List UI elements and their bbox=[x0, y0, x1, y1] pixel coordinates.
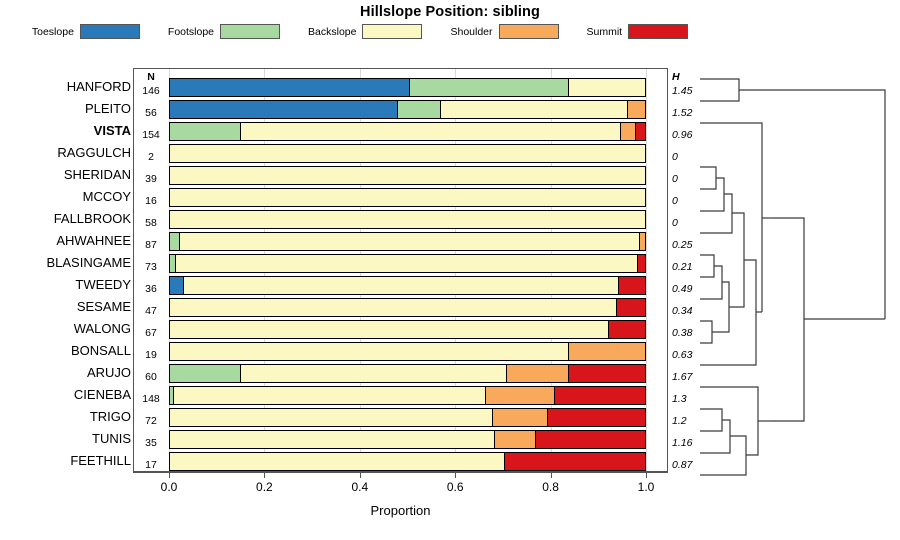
stacked-bar bbox=[169, 188, 646, 207]
bar-segment-footslope bbox=[170, 233, 180, 250]
bar-segment-backslope bbox=[241, 365, 507, 382]
stacked-bar bbox=[169, 452, 646, 471]
series-label-arujo: ARUJO bbox=[1, 365, 131, 380]
x-tick-label: 0.2 bbox=[244, 480, 284, 494]
bar-segment-summit bbox=[536, 431, 645, 448]
bar-segment-toeslope bbox=[170, 79, 410, 96]
stacked-bar bbox=[169, 408, 646, 427]
chart-row: TUNIS351.16 bbox=[134, 429, 667, 451]
plot-area: NHHANFORD1461.45PLEITO561.52VISTA1540.96… bbox=[134, 69, 667, 471]
n-value: 60 bbox=[136, 371, 166, 383]
legend-item-shoulder: Shoulder bbox=[450, 24, 586, 39]
n-value: 17 bbox=[136, 459, 166, 471]
bar-segment-backslope bbox=[241, 123, 621, 140]
dendrogram bbox=[700, 60, 896, 480]
bar-segment-footslope bbox=[170, 123, 241, 140]
bar-segment-footslope bbox=[398, 101, 441, 118]
n-value: 154 bbox=[136, 129, 166, 141]
bar-segment-backslope bbox=[184, 277, 619, 294]
legend-swatch bbox=[628, 24, 688, 39]
bar-segment-backslope bbox=[170, 299, 617, 316]
series-label-hanford: HANFORD bbox=[1, 79, 131, 94]
bar-segment-backslope bbox=[170, 321, 609, 338]
chart-row: RAGGULCH20 bbox=[134, 143, 667, 165]
x-tick-label: 0.0 bbox=[149, 480, 189, 494]
chart-row: AHWAHNEE870.25 bbox=[134, 231, 667, 253]
stacked-bar bbox=[169, 276, 646, 295]
bar-segment-backslope bbox=[170, 145, 645, 162]
bar-segment-backslope bbox=[441, 101, 629, 118]
n-value: 16 bbox=[136, 195, 166, 207]
bar-segment-backslope bbox=[170, 189, 645, 206]
bar-segment-summit bbox=[636, 123, 645, 140]
chart-row: ARUJO601.67 bbox=[134, 363, 667, 385]
chart-row: VISTA1540.96 bbox=[134, 121, 667, 143]
series-label-bonsall: BONSALL bbox=[1, 343, 131, 358]
chart-row: FALLBROOK580 bbox=[134, 209, 667, 231]
chart-row: BLASINGAME730.21 bbox=[134, 253, 667, 275]
x-axis-line bbox=[133, 472, 668, 473]
bar-segment-summit bbox=[609, 321, 645, 338]
bar-segment-backslope bbox=[180, 233, 640, 250]
x-axis-label: Proportion bbox=[133, 503, 668, 518]
chart-row: HANFORD1461.45 bbox=[134, 77, 667, 99]
chart-root: Hillslope Position: sibling ToeslopeFoot… bbox=[0, 0, 900, 540]
x-tick-label: 0.4 bbox=[340, 480, 380, 494]
legend-label: Footslope bbox=[168, 26, 214, 38]
bar-segment-backslope bbox=[176, 255, 638, 272]
legend-item-footslope: Footslope bbox=[168, 24, 308, 39]
n-value: 56 bbox=[136, 107, 166, 119]
plot-panel: NHHANFORD1461.45PLEITO561.52VISTA1540.96… bbox=[133, 68, 668, 472]
chart-row: TRIGO721.2 bbox=[134, 407, 667, 429]
series-label-cieneba: CIENEBA bbox=[1, 387, 131, 402]
legend-label: Shoulder bbox=[450, 26, 492, 38]
bar-segment-summit bbox=[569, 365, 645, 382]
chart-row: BONSALL190.63 bbox=[134, 341, 667, 363]
stacked-bar bbox=[169, 78, 646, 97]
n-value: 36 bbox=[136, 283, 166, 295]
series-label-trigo: TRIGO bbox=[1, 409, 131, 424]
chart-title: Hillslope Position: sibling bbox=[0, 4, 900, 20]
legend-item-summit: Summit bbox=[587, 24, 689, 39]
n-value: 35 bbox=[136, 437, 166, 449]
bar-segment-summit bbox=[619, 277, 645, 294]
bar-segment-backslope bbox=[170, 409, 493, 426]
x-tick bbox=[551, 472, 552, 478]
n-value: 148 bbox=[136, 393, 166, 405]
stacked-bar bbox=[169, 298, 646, 317]
stacked-bar bbox=[169, 166, 646, 185]
bar-segment-shoulder bbox=[569, 343, 645, 360]
bar-segment-shoulder bbox=[493, 409, 548, 426]
legend-item-backslope: Backslope bbox=[308, 24, 450, 39]
series-label-blasingame: BLASINGAME bbox=[1, 255, 131, 270]
series-label-tunis: TUNIS bbox=[1, 431, 131, 446]
stacked-bar bbox=[169, 122, 646, 141]
x-tick bbox=[360, 472, 361, 478]
stacked-bar bbox=[169, 342, 646, 361]
n-value: 72 bbox=[136, 415, 166, 427]
series-label-feethill: FEETHILL bbox=[1, 453, 131, 468]
legend-swatch bbox=[499, 24, 559, 39]
x-tick bbox=[646, 472, 647, 478]
series-label-sheridan: SHERIDAN bbox=[1, 167, 131, 182]
legend-label: Backslope bbox=[308, 26, 356, 38]
chart-row: SHERIDAN390 bbox=[134, 165, 667, 187]
bar-segment-backslope bbox=[170, 431, 495, 448]
stacked-bar bbox=[169, 210, 646, 229]
stacked-bar bbox=[169, 364, 646, 383]
bar-segment-summit bbox=[555, 387, 645, 404]
series-label-mccoy: MCCOY bbox=[1, 189, 131, 204]
stacked-bar bbox=[169, 430, 646, 449]
n-value: 39 bbox=[136, 173, 166, 185]
series-label-sesame: SESAME bbox=[1, 299, 131, 314]
series-label-pleito: PLEITO bbox=[1, 101, 131, 116]
legend-item-toeslope: Toeslope bbox=[32, 24, 168, 39]
bar-segment-shoulder bbox=[495, 431, 535, 448]
bar-segment-summit bbox=[548, 409, 645, 426]
bar-segment-shoulder bbox=[507, 365, 569, 382]
bar-segment-summit bbox=[617, 299, 646, 316]
bar-segment-backslope bbox=[170, 167, 645, 184]
n-value: 19 bbox=[136, 349, 166, 361]
n-value: 87 bbox=[136, 239, 166, 251]
chart-row: CIENEBA1481.3 bbox=[134, 385, 667, 407]
legend-label: Toeslope bbox=[32, 26, 74, 38]
legend: ToeslopeFootslopeBackslopeShoulderSummit bbox=[0, 24, 720, 39]
stacked-bar bbox=[169, 386, 646, 405]
series-label-fallbrook: FALLBROOK bbox=[1, 211, 131, 226]
x-tick-label: 1.0 bbox=[626, 480, 666, 494]
bar-segment-backslope bbox=[170, 343, 569, 360]
chart-row: PLEITO561.52 bbox=[134, 99, 667, 121]
series-label-vista: VISTA bbox=[1, 123, 131, 138]
legend-swatch bbox=[80, 24, 140, 39]
legend-label: Summit bbox=[587, 26, 623, 38]
chart-row: TWEEDY360.49 bbox=[134, 275, 667, 297]
bar-segment-summit bbox=[638, 255, 645, 272]
series-label-walong: WALONG bbox=[1, 321, 131, 336]
bar-segment-shoulder bbox=[621, 123, 636, 140]
n-value: 47 bbox=[136, 305, 166, 317]
chart-row: WALONG670.38 bbox=[134, 319, 667, 341]
bar-segment-toeslope bbox=[170, 101, 398, 118]
chart-row: FEETHILL170.87 bbox=[134, 451, 667, 473]
bar-segment-shoulder bbox=[628, 101, 645, 118]
n-value: 58 bbox=[136, 217, 166, 229]
stacked-bar bbox=[169, 254, 646, 273]
stacked-bar bbox=[169, 144, 646, 163]
stacked-bar bbox=[169, 320, 646, 339]
n-value: 2 bbox=[136, 151, 166, 163]
x-tick bbox=[264, 472, 265, 478]
x-tick bbox=[169, 472, 170, 478]
bar-segment-backslope bbox=[170, 211, 645, 228]
legend-swatch bbox=[362, 24, 422, 39]
series-label-raggulch: RAGGULCH bbox=[1, 145, 131, 160]
dendrogram-svg bbox=[700, 60, 896, 480]
bar-segment-backslope bbox=[170, 453, 505, 470]
chart-row: MCCOY160 bbox=[134, 187, 667, 209]
n-value: 73 bbox=[136, 261, 166, 273]
n-value: 146 bbox=[136, 85, 166, 97]
series-label-tweedy: TWEEDY bbox=[1, 277, 131, 292]
bar-segment-toeslope bbox=[170, 277, 184, 294]
bar-segment-summit bbox=[505, 453, 645, 470]
stacked-bar bbox=[169, 100, 646, 119]
x-tick-label: 0.8 bbox=[531, 480, 571, 494]
bar-segment-backslope bbox=[569, 79, 645, 96]
legend-swatch bbox=[220, 24, 280, 39]
bar-segment-backslope bbox=[174, 387, 486, 404]
x-tick bbox=[455, 472, 456, 478]
stacked-bar bbox=[169, 232, 646, 251]
n-value: 67 bbox=[136, 327, 166, 339]
bar-segment-shoulder bbox=[486, 387, 555, 404]
x-tick-label: 0.6 bbox=[435, 480, 475, 494]
bar-segment-footslope bbox=[410, 79, 569, 96]
bar-segment-footslope bbox=[170, 365, 241, 382]
bar-segment-shoulder bbox=[640, 233, 645, 250]
chart-row: SESAME470.34 bbox=[134, 297, 667, 319]
series-label-ahwahnee: AHWAHNEE bbox=[1, 233, 131, 248]
